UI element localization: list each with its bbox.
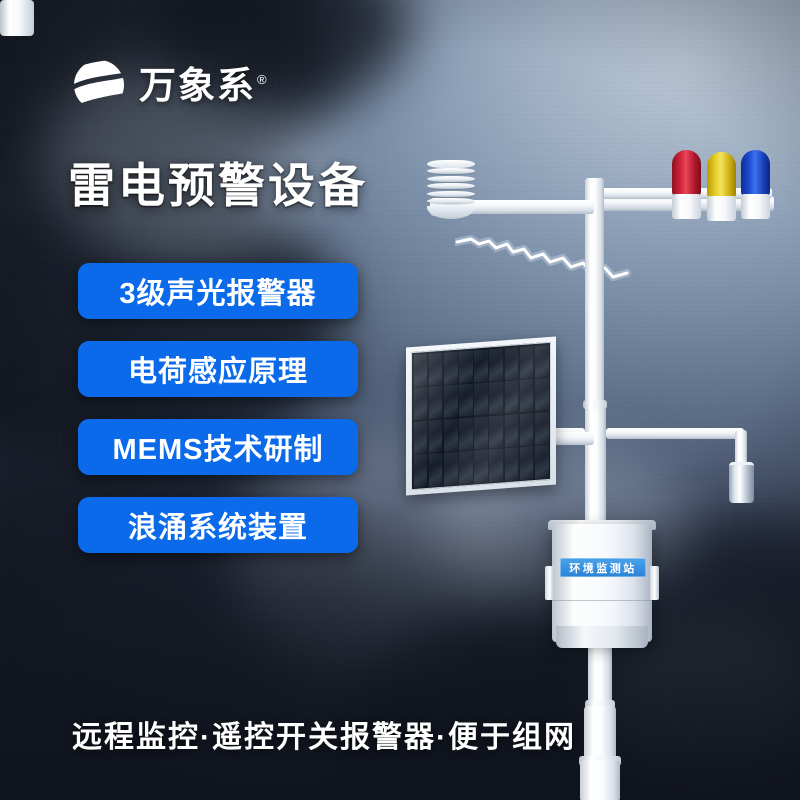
tagline: 远程监控·遥控开关报警器·便于组网: [72, 712, 576, 756]
brand-name-text: 万象系: [139, 65, 256, 106]
feature-pill-principle: 电荷感应原理: [78, 341, 358, 397]
feature-pill-mems: MEMS技术研制: [78, 419, 358, 475]
feature-pill-surge: 浪涌系统装置: [78, 497, 358, 553]
brand-name: 万象系®: [139, 67, 269, 104]
brand-logo: 万象系®: [72, 58, 269, 112]
feature-list: 3级声光报警器 电荷感应原理 MEMS技术研制 浪涌系统装置: [78, 263, 358, 553]
feature-pill-alarm: 3级声光报警器: [78, 263, 358, 319]
page-title: 雷电预警设备: [68, 160, 368, 213]
promo-banner: 环境监测站 万象系® 雷电预警设备 3级声光报警器 电荷感应原理 MEMS技术研…: [0, 0, 800, 800]
swoosh-circle-logo-icon: [72, 58, 126, 112]
trademark-symbol: ®: [257, 72, 269, 87]
